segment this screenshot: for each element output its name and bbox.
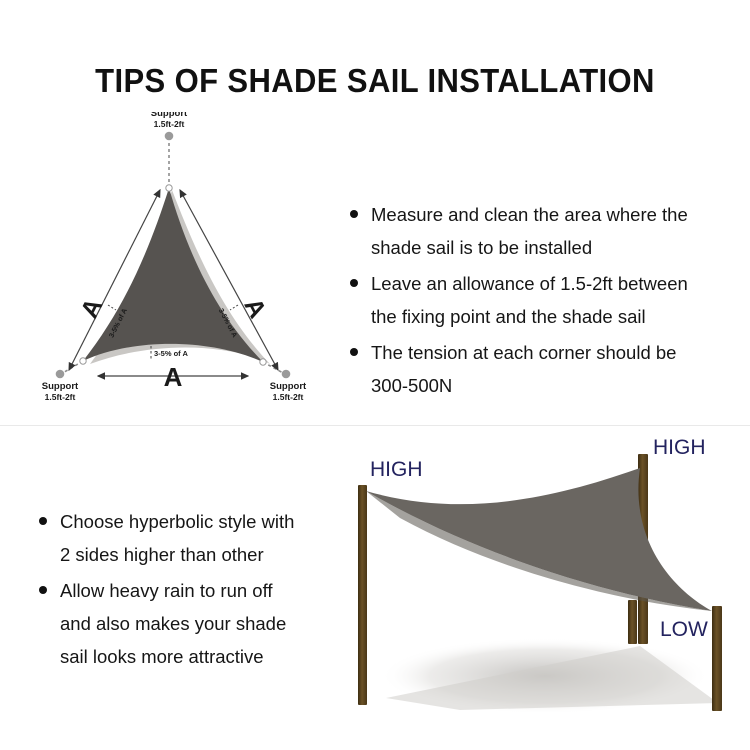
tip-line: shade sail is to be installed	[371, 231, 741, 264]
bullet-dot-icon	[39, 586, 47, 594]
support-bottom-left-label: Support	[42, 381, 79, 392]
tip-line: Measure and clean the area where the	[371, 198, 741, 231]
support-bottom-right-value: 1.5ft-2ft	[273, 392, 304, 402]
side-bottom-label: A	[164, 362, 183, 392]
support-dot-top	[165, 132, 174, 141]
tip-line: Choose hyperbolic style with	[60, 505, 348, 538]
list-item: Leave an allowance of 1.5-2ft between th…	[349, 267, 741, 333]
tip-line: sail looks more attractive	[60, 640, 348, 673]
support-bottom-right-label: Support	[270, 381, 307, 392]
section-divider	[0, 425, 750, 426]
tip-line: The tension at each corner should be	[371, 336, 741, 369]
tip-line: the fixing point and the shade sail	[371, 300, 741, 333]
corner-point-bottom-left	[80, 358, 86, 364]
sail-canopy	[366, 468, 712, 611]
list-item: Measure and clean the area where the sha…	[349, 198, 741, 264]
support-top-label: Support	[151, 112, 188, 119]
tip-line: 300-500N	[371, 369, 741, 402]
bullet-dot-icon	[350, 279, 358, 287]
support-bottom-left-value: 1.5ft-2ft	[45, 392, 76, 402]
corner-point-top	[166, 185, 172, 191]
infographic-page: TIPS OF SHADE SAIL INSTALLATION	[0, 0, 750, 750]
side-left-note-tick	[108, 305, 116, 310]
list-item: Choose hyperbolic style with 2 sides hig…	[38, 505, 348, 571]
support-dot-bottom-right	[282, 370, 291, 379]
post-left	[358, 485, 367, 705]
side-right-label: A	[238, 294, 271, 323]
side-right-note-tick	[230, 305, 238, 310]
triangle-diagram-svg: Support 1.5ft-2ft Support 1.5ft-2ft Supp…	[20, 112, 360, 412]
hyperbolic-sail-diagram: HIGH HIGH LOW	[340, 428, 750, 750]
post-front-right-low	[712, 606, 722, 711]
post-mid	[628, 600, 637, 644]
bullet-dot-icon	[350, 348, 358, 356]
corner-low-right-label: LOW	[660, 618, 708, 641]
corner-high-left-label: HIGH	[370, 458, 423, 481]
sail-diagram-svg: HIGH HIGH LOW	[340, 428, 750, 750]
support-dot-bottom-left	[56, 370, 65, 379]
tip-line: Allow heavy rain to run off	[60, 574, 348, 607]
page-title: TIPS OF SHADE SAIL INSTALLATION	[23, 62, 728, 100]
list-item: Allow heavy rain to run off and also mak…	[38, 574, 348, 673]
corner-point-bottom-right	[260, 359, 266, 365]
tip-line: 2 sides higher than other	[60, 538, 348, 571]
side-bottom-note: 3-5% of A	[154, 349, 188, 358]
tips-list-top: Measure and clean the area where the sha…	[349, 198, 741, 405]
triangle-sail-diagram: Support 1.5ft-2ft Support 1.5ft-2ft Supp…	[20, 112, 360, 412]
tips-list-bottom: Choose hyperbolic style with 2 sides hig…	[38, 505, 348, 676]
list-item: The tension at each corner should be 300…	[349, 336, 741, 402]
support-top-value: 1.5ft-2ft	[154, 119, 185, 129]
bullet-dot-icon	[350, 210, 358, 218]
tip-line: Leave an allowance of 1.5-2ft between	[371, 267, 741, 300]
corner-high-right-label: HIGH	[653, 436, 706, 459]
side-left-label: A	[75, 294, 108, 323]
tip-line: and also makes your shade	[60, 607, 348, 640]
bullet-dot-icon	[39, 517, 47, 525]
